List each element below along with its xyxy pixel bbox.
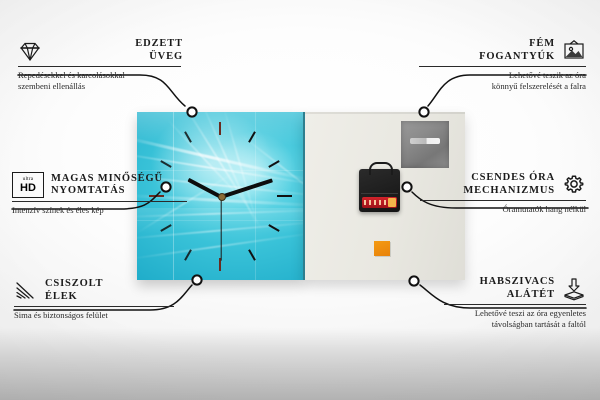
- hanger-loop-icon: [369, 162, 393, 175]
- clock-tick: [184, 131, 192, 142]
- callout-description: Sima és biztonságos felület: [14, 310, 174, 321]
- callout-title: MAGAS MINŐSÉGŰ: [51, 173, 187, 186]
- callout-title-line2: ALÁTÉT: [444, 289, 555, 302]
- callout-description-line2: könnyű felszerelését a falra: [419, 81, 586, 92]
- callout-title: FÉM: [419, 38, 555, 51]
- callout-title-line2: MECHANIZMUS: [420, 185, 555, 198]
- ultra-hd-icon-bottom: HD: [20, 183, 36, 194]
- clock-tick: [219, 122, 221, 135]
- clock-minute-hand: [220, 178, 273, 198]
- callout-fem-fogantyuk: FÉM FOGANTYÚK Lehetővé teszik az óra kön…: [419, 38, 586, 91]
- callout-title-line2: ÜVEG: [49, 51, 183, 64]
- clock-hour-hand: [187, 178, 222, 199]
- callout-title: HABSZIVACS: [444, 276, 555, 289]
- wall-hanger-frame-icon: [562, 39, 586, 63]
- clock-tick: [277, 195, 292, 197]
- callout-description: Lehetővé teszik az óra: [419, 70, 586, 81]
- gear-icon: [562, 173, 586, 197]
- callout-csendes-ora-mechanizmus: CSENDES ÓRA MECHANIZMUS Óramutatók hang …: [420, 172, 586, 215]
- ultra-hd-icon: ultra HD: [12, 172, 44, 198]
- callout-habszivacs-alatet: HABSZIVACS ALÁTÉT Lehetővé teszi az óra …: [444, 276, 586, 329]
- metal-hanger-plate: [401, 121, 449, 168]
- infographic-canvas: EDZETT ÜVEG Repedésekkel és karcolásokka…: [0, 0, 600, 400]
- callout-title-line2: NYOMTATÁS: [51, 185, 187, 198]
- clock-tick: [248, 131, 256, 142]
- clock-tick: [268, 224, 279, 232]
- callout-edzett-uveg: EDZETT ÜVEG Repedésekkel és karcolásokka…: [18, 38, 183, 91]
- floor-gradient: [0, 328, 600, 400]
- clock-tick: [184, 249, 192, 260]
- polished-edge-icon: [14, 279, 38, 303]
- battery: [362, 197, 397, 208]
- callout-magas-minosegu-nyomtatas: ultra HD MAGAS MINŐSÉGŰ NYOMTATÁS Intenz…: [12, 172, 187, 216]
- clock-mechanism: [359, 169, 400, 212]
- clock-tick: [248, 249, 256, 260]
- clock-tick: [160, 224, 171, 232]
- clock-tick: [160, 160, 171, 168]
- foam-pad: [374, 241, 390, 256]
- callout-description-line2: szembeni ellenállás: [18, 81, 183, 92]
- callout-description-line2: távolságban tartását a faltól: [444, 319, 586, 330]
- callout-description: Lehetővé teszi az óra egyenletes: [444, 308, 586, 319]
- callout-title-line2: ÉLEK: [45, 291, 174, 304]
- callout-title: EDZETT: [49, 38, 183, 51]
- callout-title: CSISZOLT: [45, 278, 174, 291]
- diamond-icon: [18, 39, 42, 63]
- clock-tick: [268, 160, 279, 168]
- callout-title: CSENDES ÓRA: [420, 172, 555, 185]
- callout-title-line2: FOGANTYÚK: [419, 51, 555, 64]
- callout-csiszolt-elek: CSISZOLT ÉLEK Sima és biztonságos felüle…: [14, 278, 174, 321]
- callout-description: Repedésekkel és karcolásokkal: [18, 70, 183, 81]
- clock-second-hand: [220, 197, 221, 261]
- clock-center-cap: [218, 193, 226, 201]
- foam-pad-icon: [562, 277, 586, 301]
- callout-description: Óramutatók hang nélkül: [420, 204, 586, 215]
- callout-description: Intenzív színek és éles kép: [12, 205, 187, 216]
